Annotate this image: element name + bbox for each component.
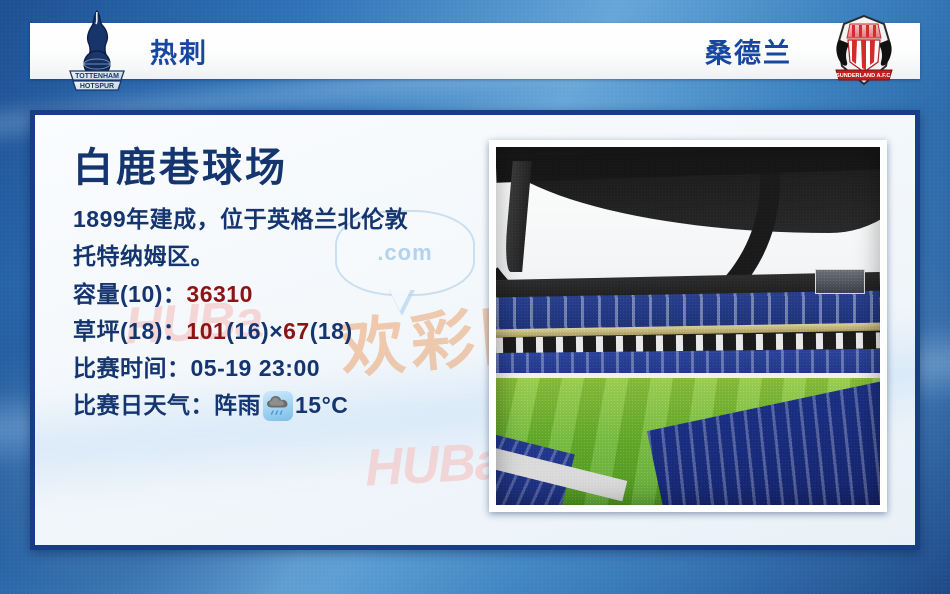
home-team-name: 热刺 <box>150 32 208 71</box>
match-header: TOTTENHAM HOTSPUR 热刺 桑德兰 <box>30 23 920 79</box>
photo-vignette <box>496 147 880 505</box>
weather-label: 比赛日天气： <box>73 387 214 424</box>
stadium-info-panel: .com .com .com .com HUBa HUBa HUBa 欢彩网 欢… <box>30 110 920 550</box>
home-team-crest-icon: TOTTENHAM HOTSPUR <box>66 8 128 94</box>
stadium-title: 白鹿巷球场 <box>73 147 493 189</box>
stadium-details: 白鹿巷球场 1899年建成，位于英格兰北伦敦 托特纳姆区。 容量(10)： 36… <box>73 147 493 425</box>
pitch-length-rank: (16) <box>226 313 269 350</box>
capacity-label: 容量(10)： <box>73 276 186 313</box>
stadium-photo <box>496 147 880 505</box>
weather-temperature: 15°C <box>295 387 348 424</box>
pitch-times-symbol: × <box>269 313 283 350</box>
stadium-description-line-1: 1899年建成，位于英格兰北伦敦 <box>73 201 493 238</box>
capacity-value: 36310 <box>186 276 252 313</box>
watermark-bubble: .com <box>143 547 293 550</box>
pitch-length-value: 101 <box>186 313 226 350</box>
home-crest-banner-top: TOTTENHAM <box>75 73 119 80</box>
stadium-photo-frame <box>489 140 887 512</box>
rain-shower-icon <box>263 391 293 421</box>
weather-condition: 阵雨 <box>214 387 261 424</box>
pitch-width-value: 67 <box>283 313 310 350</box>
capacity-row: 容量(10)： 36310 <box>73 276 493 313</box>
away-team-name: 桑德兰 <box>705 32 792 71</box>
pitch-label: 草坪(18)： <box>73 313 186 350</box>
kickoff-label: 比赛时间： <box>73 350 191 387</box>
weather-row: 比赛日天气： 阵雨 15°C <box>73 387 493 424</box>
away-team-crest-icon: SUNDERLAND A.F.C. <box>826 14 902 88</box>
kickoff-row: 比赛时间： 05-19 23:00 <box>73 350 493 387</box>
pitch-row: 草坪(18)： 101 (16) × 67 (18) <box>73 313 493 350</box>
away-crest-banner: SUNDERLAND A.F.C. <box>836 73 892 79</box>
home-crest-banner-bottom: HOTSPUR <box>80 83 114 90</box>
pitch-width-rank: (18) <box>310 313 353 350</box>
stadium-description-line-2: 托特纳姆区。 <box>73 238 493 275</box>
kickoff-value: 05-19 23:00 <box>191 350 321 387</box>
